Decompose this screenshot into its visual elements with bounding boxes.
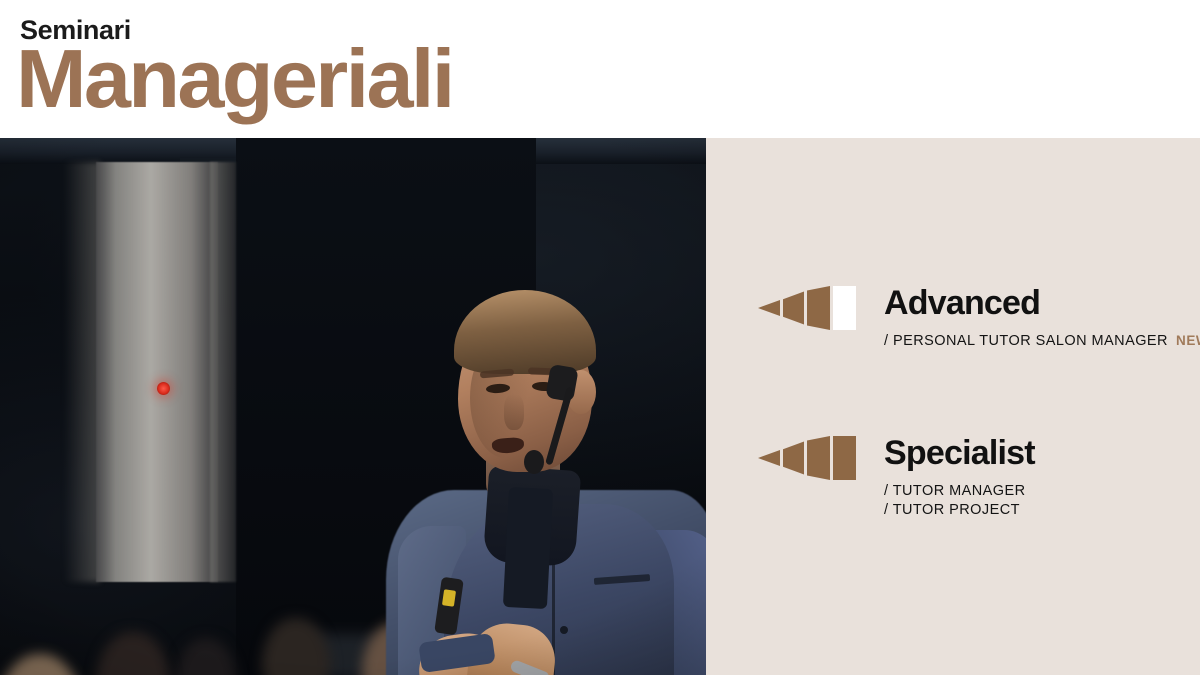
chevron-level-3-of-4-icon xyxy=(758,286,858,330)
headset-microphone-icon xyxy=(524,450,544,474)
level-text-advanced: Advanced / PERSONAL TUTOR SALON MANAGERN… xyxy=(884,286,1200,351)
new-badge: NEW xyxy=(1176,333,1200,348)
level-text-specialist: Specialist / TUTOR MANAGER / TUTOR PROJE… xyxy=(884,436,1035,520)
bright-pillar xyxy=(96,162,218,582)
slide-header: Seminari Manageriali xyxy=(0,0,1200,138)
speaker-tie xyxy=(503,487,553,609)
speaker-photo xyxy=(0,138,706,675)
pillar-glow xyxy=(64,162,100,582)
course-label: / PERSONAL TUTOR SALON MANAGER xyxy=(884,333,1168,349)
pillar-edge xyxy=(210,162,236,582)
level-course-list: / TUTOR MANAGER / TUTOR PROJECT xyxy=(884,482,1035,520)
chevron-level-4-of-4-icon xyxy=(758,436,858,480)
page-title: Manageriali xyxy=(16,37,453,120)
red-indicator-light-icon xyxy=(157,382,170,395)
slide-root: Seminari Manageriali xyxy=(0,0,1200,675)
speaker-vest-button xyxy=(560,626,568,634)
presentation-clicker-button xyxy=(442,589,456,607)
levels-panel: Advanced / PERSONAL TUTOR SALON MANAGERN… xyxy=(706,138,1200,675)
level-title: Specialist xyxy=(884,436,1035,470)
level-title: Advanced xyxy=(884,286,1200,320)
course-label: / TUTOR PROJECT xyxy=(884,502,1020,518)
level-course-list: / PERSONAL TUTOR SALON MANAGERNEW xyxy=(884,332,1200,351)
course-row[interactable]: / TUTOR PROJECT xyxy=(884,501,1035,520)
course-row[interactable]: / PERSONAL TUTOR SALON MANAGERNEW xyxy=(884,332,1200,351)
course-row[interactable]: / TUTOR MANAGER xyxy=(884,482,1035,501)
speaker-nose xyxy=(504,394,524,430)
course-label: / TUTOR MANAGER xyxy=(884,483,1026,499)
